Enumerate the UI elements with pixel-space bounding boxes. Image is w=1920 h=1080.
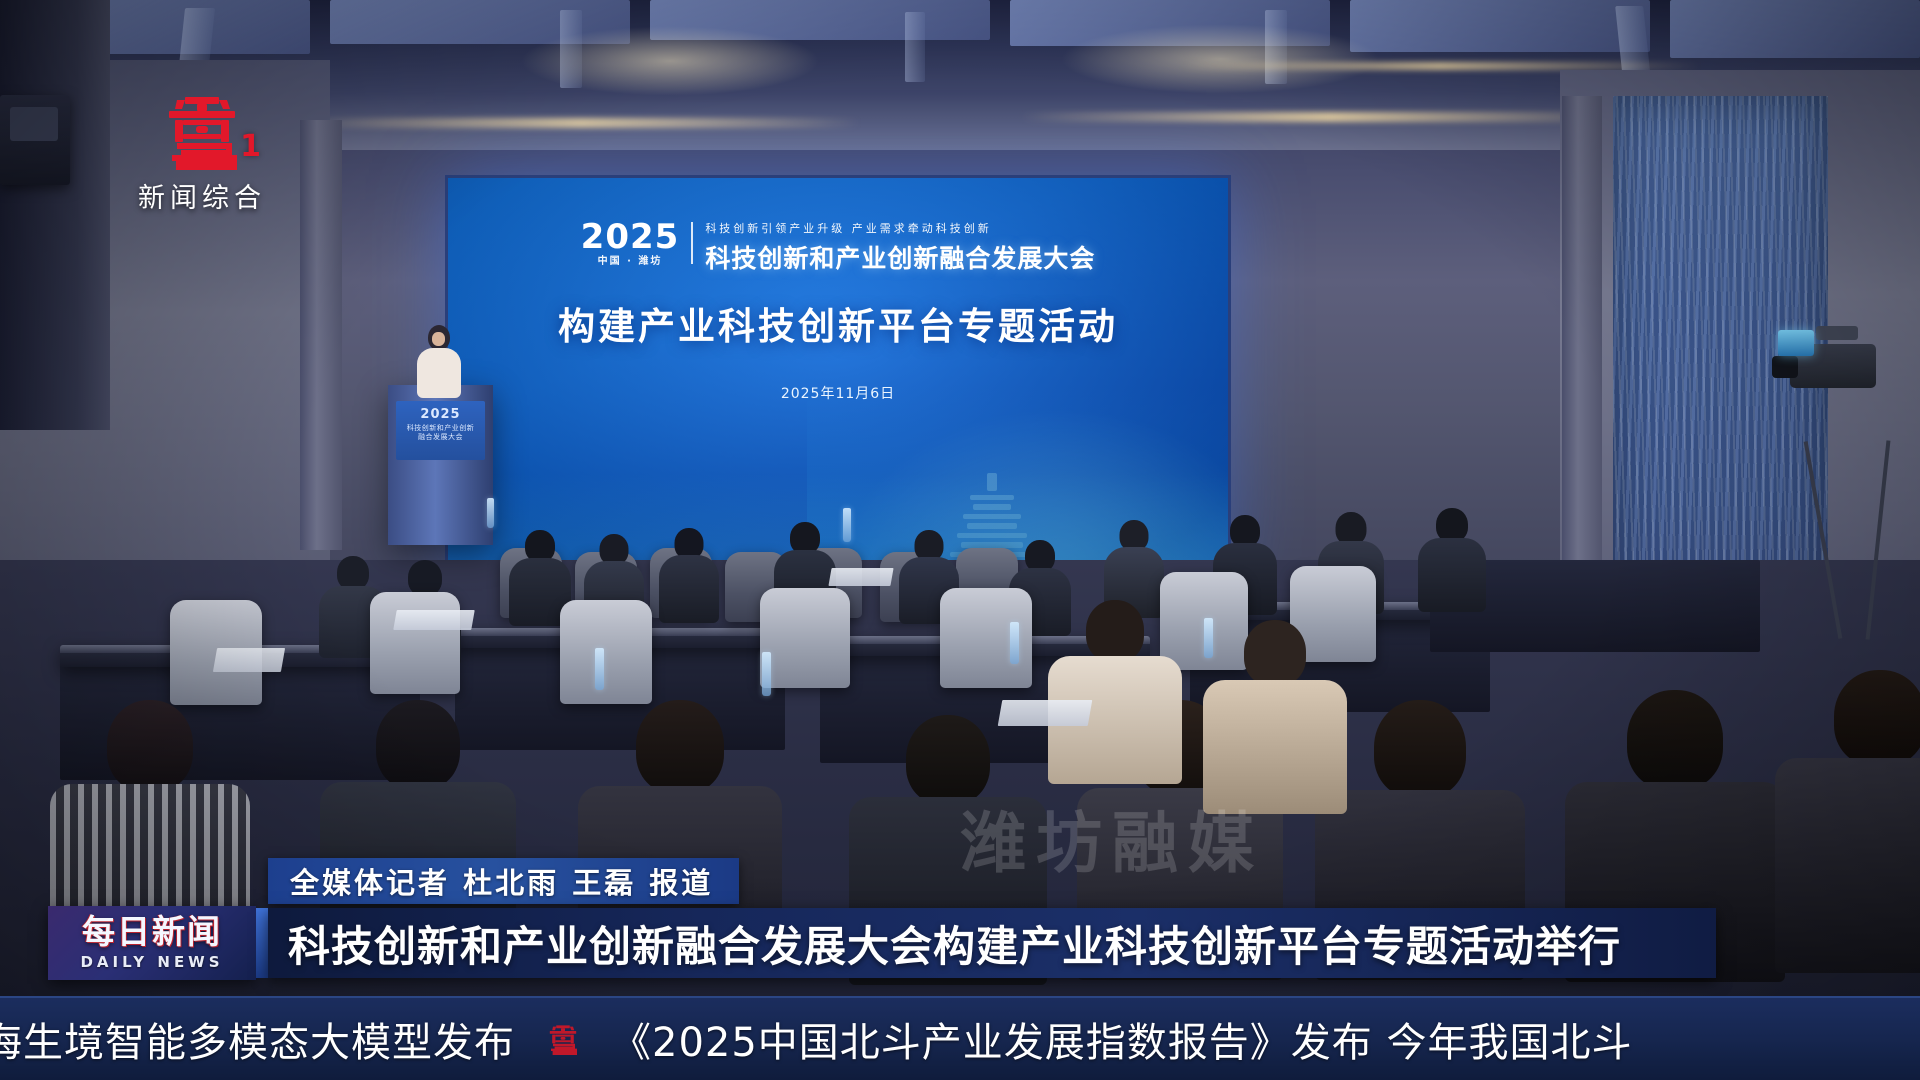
water-bottle — [1204, 618, 1213, 658]
chair — [760, 588, 850, 688]
paper-document — [828, 568, 893, 586]
lu-character-logo-icon: 1 — [147, 92, 257, 170]
water-bottle — [843, 508, 851, 542]
reporter-credit-text: 全媒体记者 杜北雨 王磊 报道 — [290, 860, 713, 902]
paper-document — [998, 700, 1093, 726]
ticker-item: 海生境智能多模态大模型发布 — [0, 1010, 515, 1068]
chair — [560, 600, 652, 704]
podium-plate: 2025 科技创新和产业创新 融合发展大会 — [396, 401, 485, 460]
led-year: 2025 — [581, 220, 680, 254]
column-right — [1562, 96, 1602, 566]
speaker-box — [0, 95, 70, 185]
audience-member — [660, 528, 718, 623]
paper-document — [213, 648, 285, 672]
led-divider — [691, 222, 693, 264]
column-left — [300, 120, 342, 550]
audience-member-foreground — [1790, 670, 1920, 970]
chair — [370, 592, 460, 694]
podium-plate-year: 2025 — [396, 406, 485, 424]
led-slogan: 科技创新引领产业升级 产业需求牵动科技创新 — [705, 220, 1095, 236]
paper-document — [393, 610, 475, 630]
channel-number: 1 — [240, 129, 261, 164]
led-session-title: 构建产业科技创新平台专题活动 — [448, 296, 1228, 350]
reporter-credit-bar: 全媒体记者 杜北雨 王磊 报道 — [268, 858, 739, 904]
program-badge: 每日新闻 DAILY NEWS — [48, 906, 256, 980]
led-header: 2025 中国 · 潍坊 科技创新引领产业升级 产业需求牵动科技创新 科技创新和… — [448, 220, 1228, 275]
audience-member — [1210, 620, 1340, 810]
headline-bar: 科技创新和产业创新融合发展大会构建产业科技创新平台专题活动举行 — [268, 908, 1716, 978]
channel-logo: 1 新闻综合 — [112, 92, 292, 215]
speaker-at-podium — [415, 325, 463, 397]
water-bottle — [762, 652, 771, 696]
headline-text: 科技创新和产业创新融合发展大会构建产业科技创新平台专题活动举行 — [268, 913, 1621, 974]
ticker-separator-lu-icon — [515, 1017, 611, 1061]
broadcast-camera — [1772, 330, 1902, 450]
led-conference-name: 科技创新和产业创新融合发展大会 — [705, 239, 1095, 275]
news-ticker[interactable]: 海生境智能多模态大模型发布 《2025中国北斗产业发展指数报告》发 — [0, 996, 1920, 1080]
broadcast-screenshot: 2025 中国 · 潍坊 科技创新引领产业升级 产业需求牵动科技创新 科技创新和… — [0, 0, 1920, 1080]
podium: 2025 科技创新和产业创新 融合发展大会 — [388, 385, 493, 545]
wall-left-dark — [0, 0, 110, 430]
podium-plate-line2: 融合发展大会 — [396, 433, 485, 442]
program-name-en: DAILY NEWS — [80, 953, 223, 971]
program-name-cn: 每日新闻 — [82, 915, 222, 948]
audience-member — [1420, 508, 1484, 612]
led-location: 中国 · 潍坊 — [581, 257, 680, 267]
water-bottle — [487, 498, 494, 528]
audience-member — [1055, 600, 1175, 780]
channel-name: 新闻综合 — [112, 176, 292, 215]
led-date: 2025年11月6日 — [448, 383, 1228, 403]
water-bottle — [1010, 622, 1019, 664]
headline-accent — [256, 908, 268, 978]
ticker-item: 《2025中国北斗产业发展指数报告》发布 今年我国北斗 — [611, 1010, 1633, 1068]
led-year-block: 2025 中国 · 潍坊 — [581, 220, 680, 267]
podium-plate-line1: 科技创新和产业创新 — [396, 424, 485, 433]
water-bottle — [595, 648, 604, 690]
